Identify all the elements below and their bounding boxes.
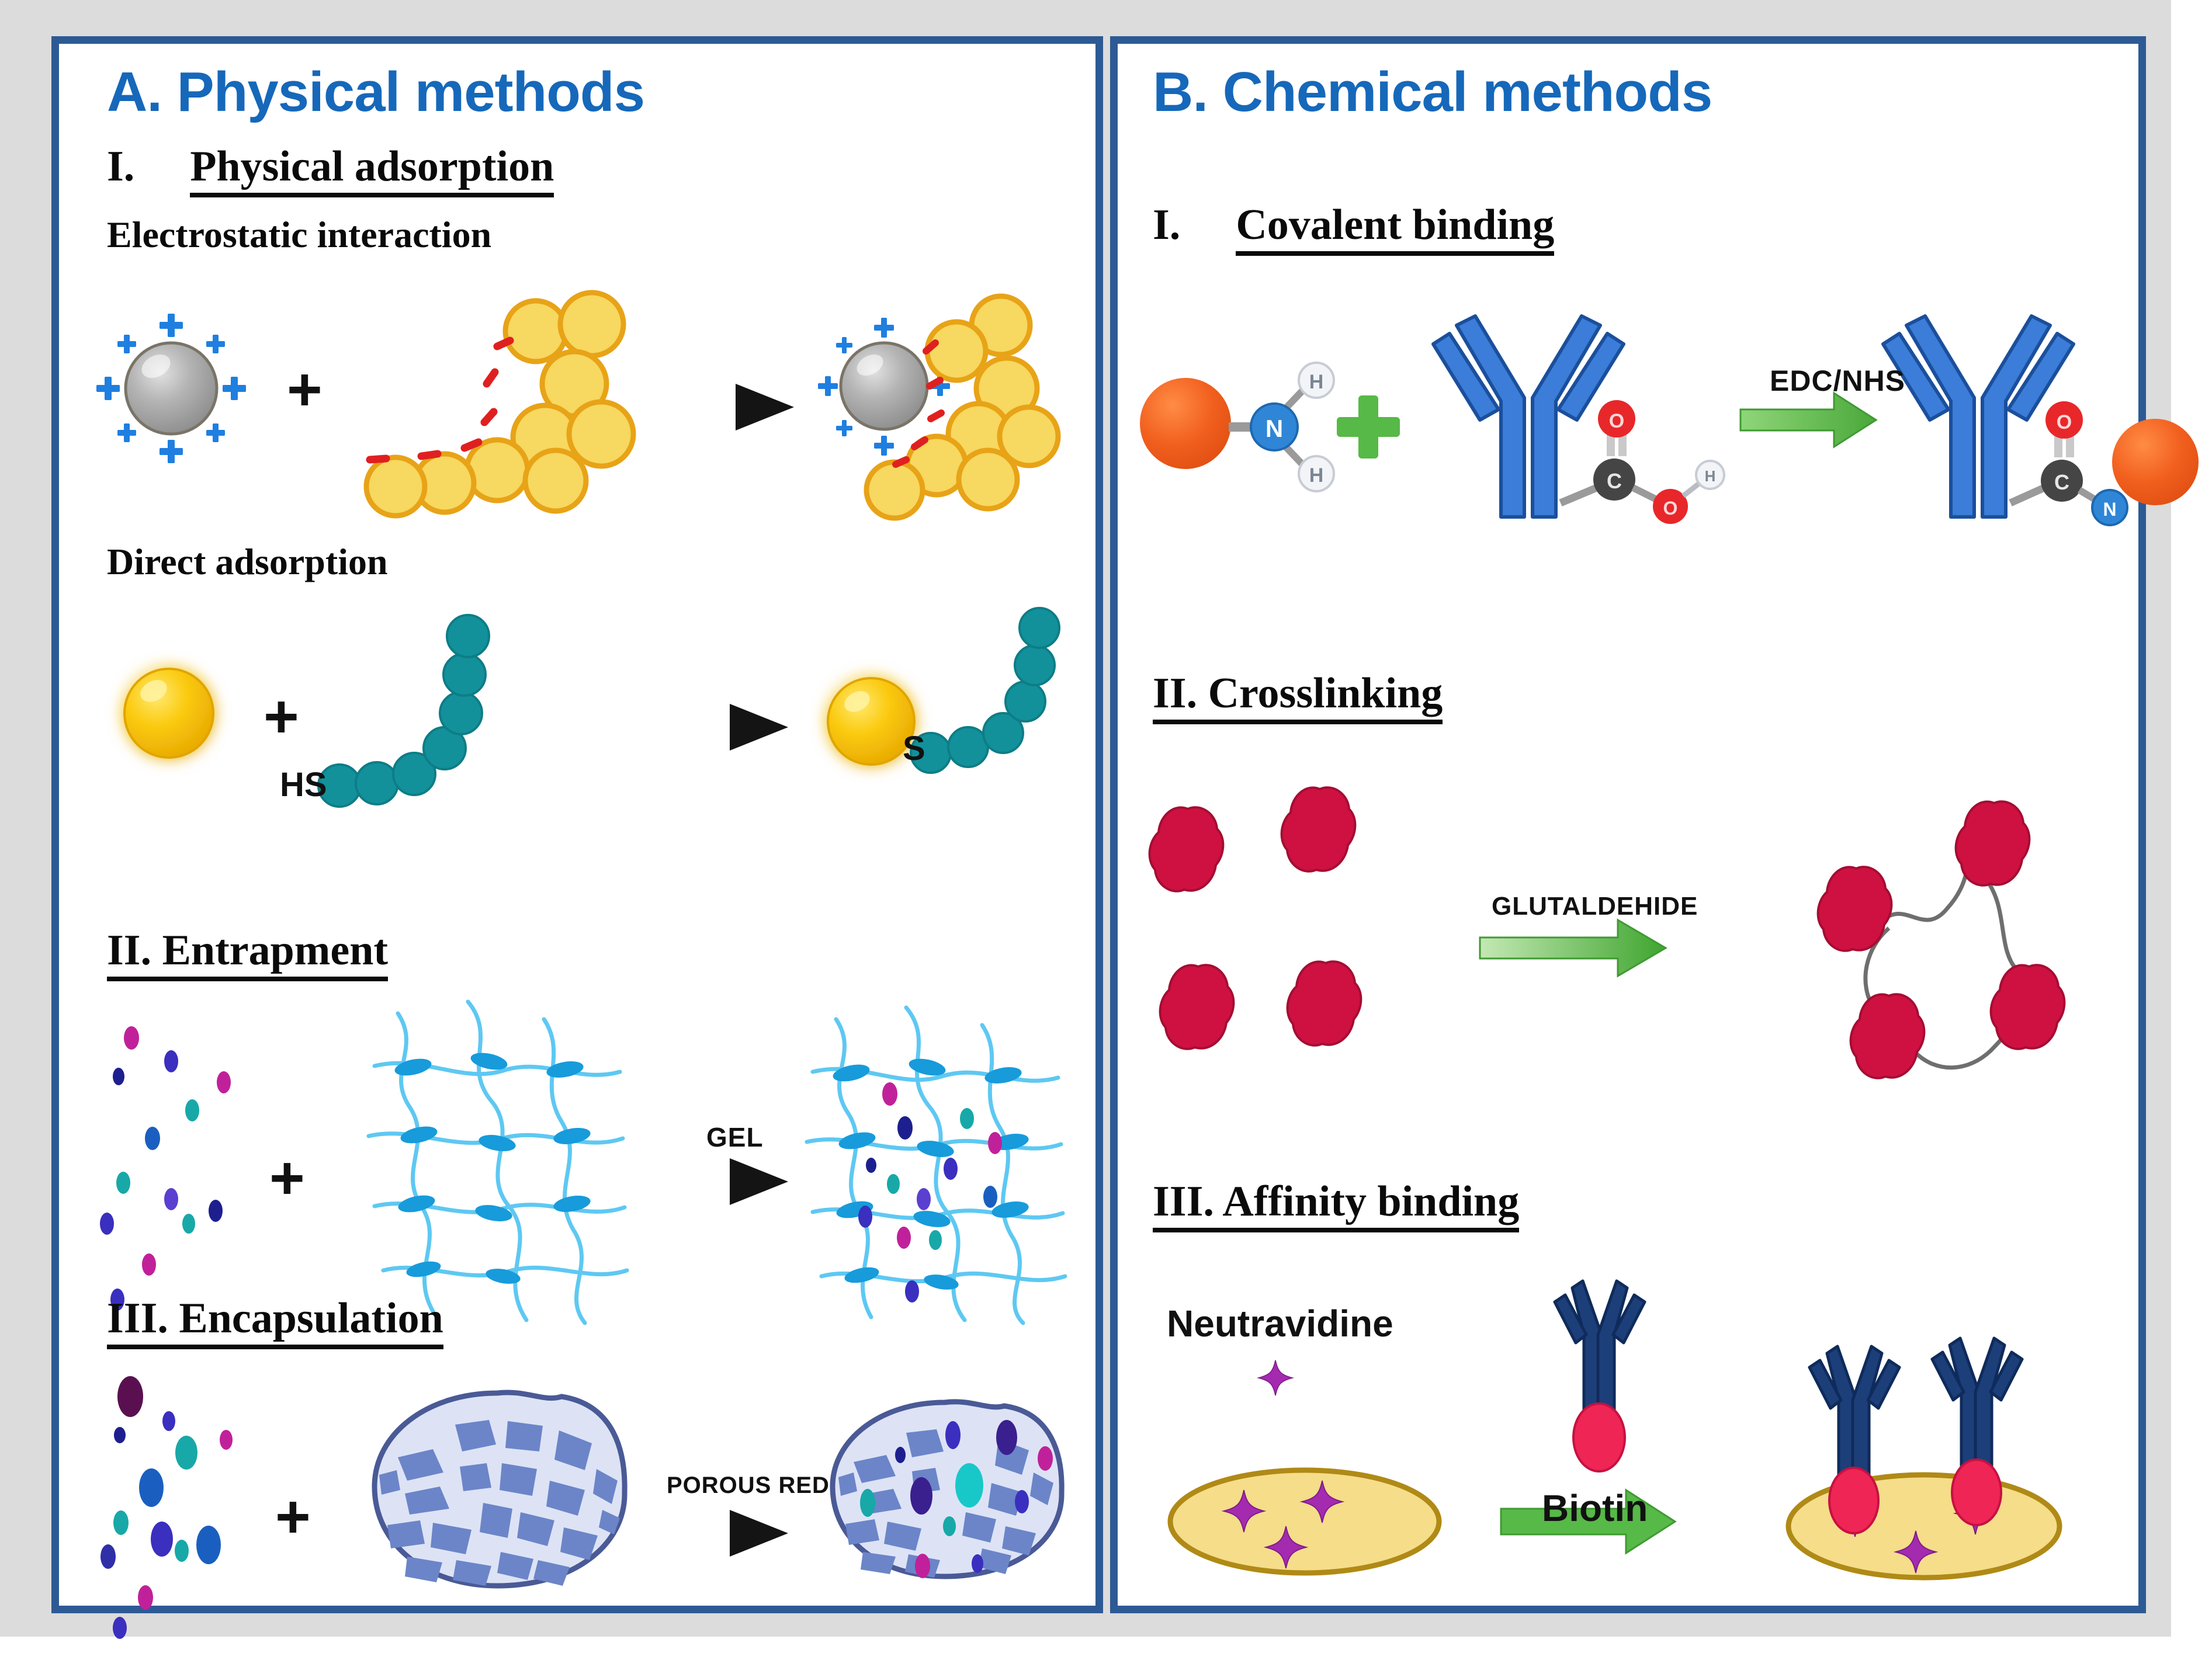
section-covalent-binding: I. Covalent binding [1153, 200, 1554, 256]
free-enzyme-dots [100, 1026, 231, 1311]
panel-b-title: B. Chemical methods [1153, 60, 1712, 124]
atom-nitrogen: N [1266, 415, 1283, 442]
direct-adsorption-diagram: HS [94, 599, 1087, 832]
porous-matrix [375, 1392, 625, 1586]
hydrogel-nodes [393, 1050, 592, 1286]
atom-carbon: C [1607, 469, 1622, 493]
panels-container: A. Physical methods I. Physical adsorpti… [51, 36, 2146, 1613]
section-roman: I. [1153, 200, 1180, 250]
thiol-chain [318, 615, 489, 807]
plus-symbol: + [275, 1487, 311, 1547]
neutravidine-legend-star [1258, 1360, 1292, 1395]
section-affinity-binding: III. Affinity binding [1153, 1177, 1519, 1232]
arrow-label-gel: GEL [706, 1121, 764, 1153]
affinity-binding-diagram: Neutravidine Biotin [1129, 1270, 2128, 1609]
atom-hydroxyl-hydrogen: H [1705, 467, 1716, 485]
section-label: Entrapment [162, 926, 388, 974]
section-roman: I. [107, 142, 134, 192]
section-physical-adsorption: I. Physical adsorption [107, 142, 554, 197]
entrapment-diagram: + GEL [94, 996, 1087, 1323]
legend-label-biotin: Biotin [1542, 1487, 1648, 1530]
atom-oxygen-2: O [1663, 498, 1678, 519]
atom-nitrogen-product: N [2103, 499, 2116, 520]
affinity-bound-complex [1788, 1338, 2060, 1578]
panel-a-title: A. Physical methods [107, 60, 644, 124]
electrostatic-complex [818, 296, 1058, 518]
entrapped-complex [807, 1008, 1065, 1323]
section-roman: III. [1153, 1178, 1214, 1225]
charged-nanoparticle [96, 314, 246, 463]
amine-functionalized-particle: N H H [1140, 363, 1334, 491]
section-label: Crosslinking [1208, 669, 1443, 717]
gold-thiol-conjugate: S [828, 608, 1059, 773]
section-label: Affinity binding [1222, 1178, 1519, 1225]
atom-oxygen-product: O [2057, 411, 2072, 433]
section-roman: III. [107, 1294, 168, 1342]
antibody-with-carboxyl: C O O H [1433, 316, 1724, 524]
section-encapsulation: III. Encapsulation [107, 1294, 443, 1349]
biotin-marker [1952, 1460, 2001, 1525]
biotin-marker [1829, 1468, 1878, 1533]
atom-hydrogen-1: H [1309, 371, 1324, 393]
encapsulation-diagram: + POROUS RED [94, 1364, 1087, 1644]
trapped-enzyme-dots [858, 1082, 1002, 1303]
arrow-label-porous-red: POROUS RED [667, 1472, 830, 1499]
section-label: Encapsulation [179, 1294, 443, 1342]
atom-carbon-product: C [2054, 470, 2069, 494]
electrostatic-diagram: + [94, 277, 1087, 523]
gold-nanoparticle [124, 669, 213, 758]
free-enzyme-dots [100, 1376, 233, 1639]
plus-symbol: + [264, 686, 299, 747]
polymer-bead-cluster [366, 293, 633, 516]
s-label: S [903, 730, 925, 767]
biotin-labeled-antibody [1555, 1281, 1645, 1471]
hs-label: HS [280, 766, 327, 804]
green-plus-icon [1337, 395, 1400, 459]
subsection-direct-adsorption: Direct adsorption [107, 540, 388, 584]
panel-a-physical-methods: A. Physical methods I. Physical adsorpti… [51, 36, 1103, 1613]
plus-symbol: + [287, 359, 323, 420]
covalent-binding-diagram: N H H [1129, 295, 2128, 552]
crosslinked-protein-network [1818, 801, 2065, 1078]
figure-root: A. Physical methods I. Physical adsorpti… [0, 0, 2212, 1667]
section-roman: II. [107, 926, 151, 974]
crosslinking-diagram: GLUTALDEHIDE [1129, 762, 2128, 1089]
neutravidine-platform [1170, 1470, 1439, 1573]
atom-hydrogen-2: H [1309, 464, 1324, 487]
encapsulated-complex [833, 1402, 1062, 1578]
section-label: Physical adsorption [190, 142, 554, 197]
atom-oxygen-1: O [1609, 410, 1624, 432]
legend-label-neutravidine: Neutravidine [1167, 1302, 1393, 1345]
section-crosslinking: II. Crosslinking [1153, 669, 1443, 724]
free-protein-blobs [1150, 787, 1361, 1049]
arrow-label-glutaldehyde: GLUTALDEHIDE [1492, 892, 1698, 921]
arrow-label-edc-nhs: EDC/NHS [1770, 364, 1905, 398]
subsection-electrostatic-interaction: Electrostatic interaction [107, 213, 491, 256]
section-entrapment: II. Entrapment [107, 926, 388, 981]
section-label: Covalent binding [1236, 200, 1554, 256]
panel-b-chemical-methods: B. Chemical methods I. Covalent binding [1110, 36, 2146, 1613]
biotin-marker [1573, 1404, 1625, 1471]
plus-symbol: + [269, 1148, 305, 1208]
edc-nhs-arrow [1741, 393, 1876, 447]
section-roman: II. [1153, 669, 1197, 717]
glutaldehyde-arrow [1480, 920, 1666, 976]
